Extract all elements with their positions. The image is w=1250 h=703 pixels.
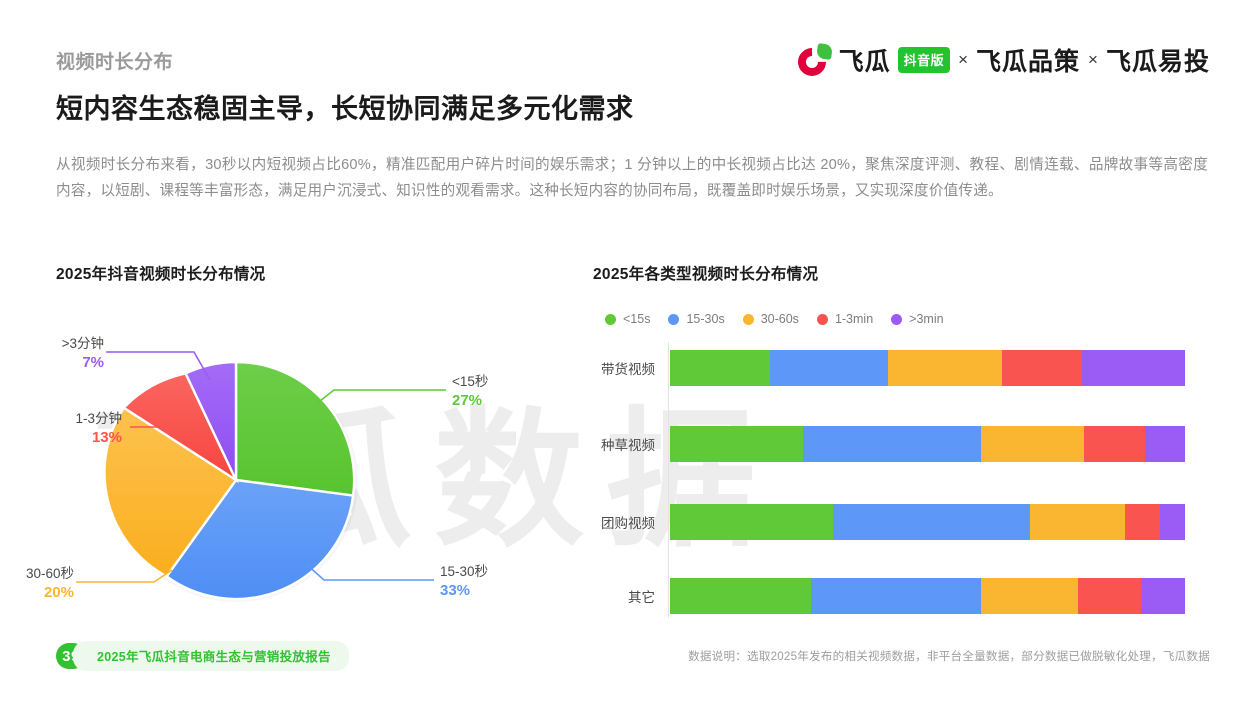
bar-seg-other-lt15s[interactable] [670,578,811,614]
pie-label-1-3min: 1-3分钟 13% [4,409,122,447]
bar-category-tuangou: 团购视频 [593,512,663,532]
legend-dot-1-3min [817,314,828,325]
bar-seg-tuangou-gt3min[interactable] [1160,504,1185,540]
bar-category-zhongcao: 种草视频 [593,434,663,454]
legend-item-1-3min[interactable]: 1-3min [817,312,873,326]
brand-separator-1: × [957,50,969,70]
legend-item-15-30s[interactable]: 15-30s [668,312,724,326]
pie-label-lt15s: <15秒 27% [452,372,488,410]
bar-seg-tuangou-lt15s[interactable] [670,504,833,540]
legend-label-lt15s: <15s [623,312,650,326]
brand-separator-2: × [1087,50,1099,70]
brand-name: 飞瓜 [839,42,891,78]
leader-lt15s [316,390,446,404]
brand-partner-pince: 飞瓜品策 [976,42,1080,78]
bar-seg-daihuo-15-30s[interactable] [770,350,888,386]
bar-track-zhongcao [670,426,1185,462]
bar-chart: <15s 15-30s 30-60s 1-3min >3min 带货视 [593,292,1193,622]
brand-partner-yitou: 飞瓜易投 [1106,42,1210,78]
page-title: 短内容生态稳固主导，长短协同满足多元化需求 [56,87,634,126]
legend-dot-30-60s [743,314,754,325]
page-kicker: 视频时长分布 [56,47,173,74]
legend-label-gt3min: >3min [909,312,943,326]
slide-page: 视频时长分布 短内容生态稳固主导，长短协同满足多元化需求 飞瓜 抖音版 × 飞瓜… [0,0,1250,703]
bar-plot-area: 带货视频 种草视频 [593,340,1193,618]
bar-track-other [670,578,1185,614]
bar-seg-other-1-3min[interactable] [1078,578,1141,614]
legend-item-gt3min[interactable]: >3min [891,312,943,326]
bar-row-tuangou: 团购视频 [593,504,1193,540]
bar-seg-zhongcao-gt3min[interactable] [1145,426,1185,462]
bar-chart-title: 2025年各类型视频时长分布情况 [593,262,818,284]
legend-dot-lt15s [605,314,616,325]
bar-seg-daihuo-30-60s[interactable] [888,350,1002,386]
bar-row-zhongcao: 种草视频 [593,426,1193,462]
legend-label-30-60s: 30-60s [761,312,799,326]
pie-svg [56,292,576,622]
bar-seg-zhongcao-1-3min[interactable] [1084,426,1145,462]
pie-chart: <15秒 27% 15-30秒 33% 30-60秒 20% 1-3分钟 13%… [56,292,576,622]
bar-seg-zhongcao-30-60s[interactable] [981,426,1084,462]
legend-label-1-3min: 1-3min [835,312,873,326]
bar-seg-tuangou-30-60s[interactable] [1030,504,1125,540]
pie-chart-title: 2025年抖音视频时长分布情况 [56,262,265,284]
bar-category-daihuo: 带货视频 [593,358,663,378]
bar-category-other: 其它 [593,586,663,606]
pie-chart-canvas: <15秒 27% 15-30秒 33% 30-60秒 20% 1-3分钟 13%… [56,292,576,622]
report-title-pill: 2025年飞瓜抖音电商生态与营销投放报告 [73,641,349,671]
legend-dot-15-30s [668,314,679,325]
legend-label-15-30s: 15-30s [686,312,724,326]
leader-15-30s [306,564,434,580]
bar-seg-daihuo-1-3min[interactable] [1002,350,1082,386]
bar-row-other: 其它 [593,578,1193,614]
bar-track-daihuo [670,350,1185,386]
legend-dot-gt3min [891,314,902,325]
summary-paragraph: 从视频时长分布来看，30秒以内短视频占比60%，精准匹配用户碎片时间的娱乐需求；… [56,152,1208,204]
bar-seg-zhongcao-lt15s[interactable] [670,426,803,462]
bar-seg-other-30-60s[interactable] [981,578,1078,614]
bar-seg-zhongcao-15-30s[interactable] [803,426,981,462]
pie-label-gt3min: >3分钟 7% [16,334,104,372]
data-source-note: 数据说明：选取2025年发布的相关视频数据，非平台全量数据，部分数据已做脱敏化处… [688,648,1210,664]
footer-left: 39 2025年飞瓜抖音电商生态与营销投放报告 [56,641,349,671]
pie-label-15-30s: 15-30秒 33% [440,562,488,600]
bar-seg-daihuo-lt15s[interactable] [670,350,770,386]
bar-track-tuangou [670,504,1185,540]
bar-seg-other-gt3min[interactable] [1141,578,1185,614]
bar-row-daihuo: 带货视频 [593,350,1193,386]
bar-chart-legend: <15s 15-30s 30-60s 1-3min >3min [605,312,962,326]
pie-slices [104,362,354,599]
bar-seg-tuangou-1-3min[interactable] [1125,504,1160,540]
feigua-logo-icon [798,44,832,76]
bar-seg-tuangou-15-30s[interactable] [833,504,1030,540]
brand-bar: 飞瓜 抖音版 × 飞瓜品策 × 飞瓜易投 [798,42,1210,78]
bar-seg-daihuo-gt3min[interactable] [1082,350,1185,386]
brand-badge-douyin: 抖音版 [898,47,951,73]
legend-item-30-60s[interactable]: 30-60s [743,312,799,326]
pie-slice-lt15s [236,362,354,496]
bar-seg-other-15-30s[interactable] [811,578,981,614]
legend-item-lt15s[interactable]: <15s [605,312,650,326]
pie-label-30-60s: 30-60秒 20% [0,564,74,602]
